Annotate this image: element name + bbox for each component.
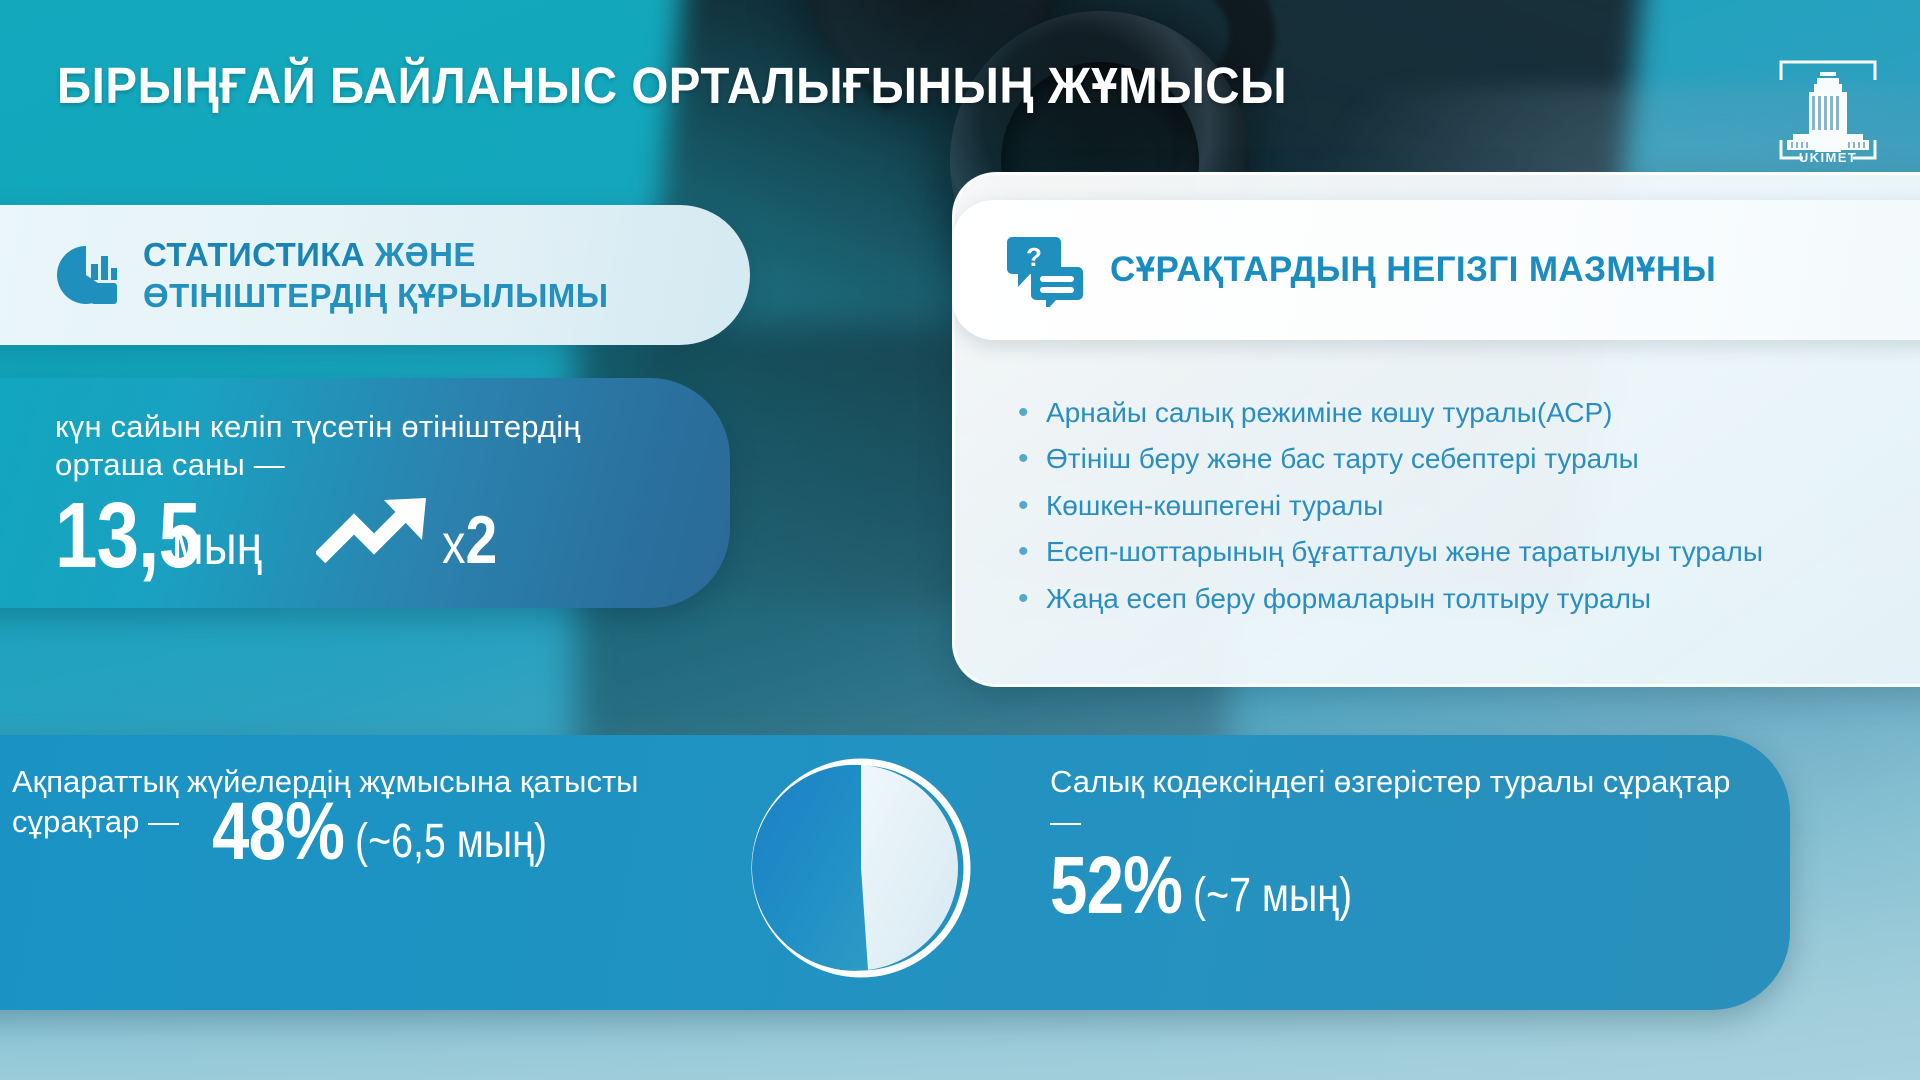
government-building-icon: UKIMET	[1773, 54, 1883, 166]
breakdown-left-value-row: 48% (~6,5 мың)	[212, 793, 672, 871]
list-item: Есеп-шоттарының бұғатталуы және таратылу…	[1010, 534, 1910, 570]
list-item: Өтініш беру және бас тарту себептері тур…	[1010, 441, 1910, 477]
statistics-title-rest: ЖӘНЕ	[365, 236, 476, 273]
multiplier-value: 2	[465, 502, 497, 578]
average-requests-unit: мың	[172, 517, 262, 573]
growth-multiplier: х2	[442, 506, 497, 574]
page-title: БІРЫҢҒАЙ БАЙЛАНЫС ОРТАЛЫҒЫНЫҢ ЖҰМЫСЫ	[57, 56, 1287, 115]
list-item: Жаңа есеп беру формаларын толтыру туралы	[1010, 581, 1910, 617]
header: БІРЫҢҒАЙ БАЙЛАНЫС ОРТАЛЫҒЫНЫҢ ЖҰМЫСЫ	[0, 0, 1920, 150]
average-requests-card: күн сайын келіп түсетін өтініштердің орт…	[0, 378, 730, 608]
pie-bar-chart-icon	[55, 242, 121, 308]
questions-list: Арнайы салық режиміне көшу туралы(АСР) Ө…	[1010, 395, 1910, 627]
breakdown-left-percent: 48%	[212, 793, 344, 871]
question-chat-bubbles-icon: ?	[1006, 233, 1084, 307]
breakdown-right-percent: 52%	[1050, 847, 1182, 925]
questions-title: СҰРАҚТАРДЫҢ НЕГІЗГІ МАЗМҰНЫ	[1110, 249, 1716, 291]
questions-header-card: ? СҰРАҚТАРДЫҢ НЕГІЗГІ МАЗМҰНЫ	[952, 200, 1920, 340]
statistics-header-card: СТАТИСТИКА ЖӘНЕ ӨТІНІШТЕРДІҢ ҚҰРЫЛЫМЫ	[0, 205, 750, 345]
pie-chart-icon	[750, 757, 972, 979]
statistics-title-lead: СТАТИСТИКА	[143, 236, 365, 273]
requests-breakdown-card: Ақпараттық жүйелердің жұмысына қатысты с…	[0, 735, 1790, 1010]
trending-up-arrow-icon	[316, 496, 436, 574]
average-requests-value-row: 13,5 мың х2	[55, 491, 690, 580]
list-item: Арнайы салық режиміне көшу туралы(АСР)	[1010, 395, 1910, 431]
breakdown-left-note: (~6,5 мың)	[355, 818, 547, 866]
breakdown-right-value-row: 52% (~7 мың)	[1050, 847, 1740, 925]
average-requests-label: күн сайын келіп түсетін өтініштердің орт…	[55, 408, 690, 485]
statistics-title: СТАТИСТИКА ЖӘНЕ ӨТІНІШТЕРДІҢ ҚҰРЫЛЫМЫ	[143, 234, 608, 317]
breakdown-right-label: Салық кодексіндегі өзгерістер туралы сұр…	[1050, 762, 1740, 841]
multiplier-x: х	[442, 512, 466, 575]
statistics-title-line2: ӨТІНІШТЕРДІҢ ҚҰРЫЛЫМЫ	[143, 275, 608, 316]
logo-text: UKIMET	[1799, 150, 1857, 165]
list-item: Көшкен-көшпегені туралы	[1010, 488, 1910, 524]
breakdown-right-section: Салық кодексіндегі өзгерістер туралы сұр…	[1050, 762, 1740, 925]
breakdown-right-note: (~7 мың)	[1193, 872, 1352, 920]
breakdown-left-section: Ақпараттық жүйелердің жұмысына қатысты с…	[12, 762, 672, 871]
